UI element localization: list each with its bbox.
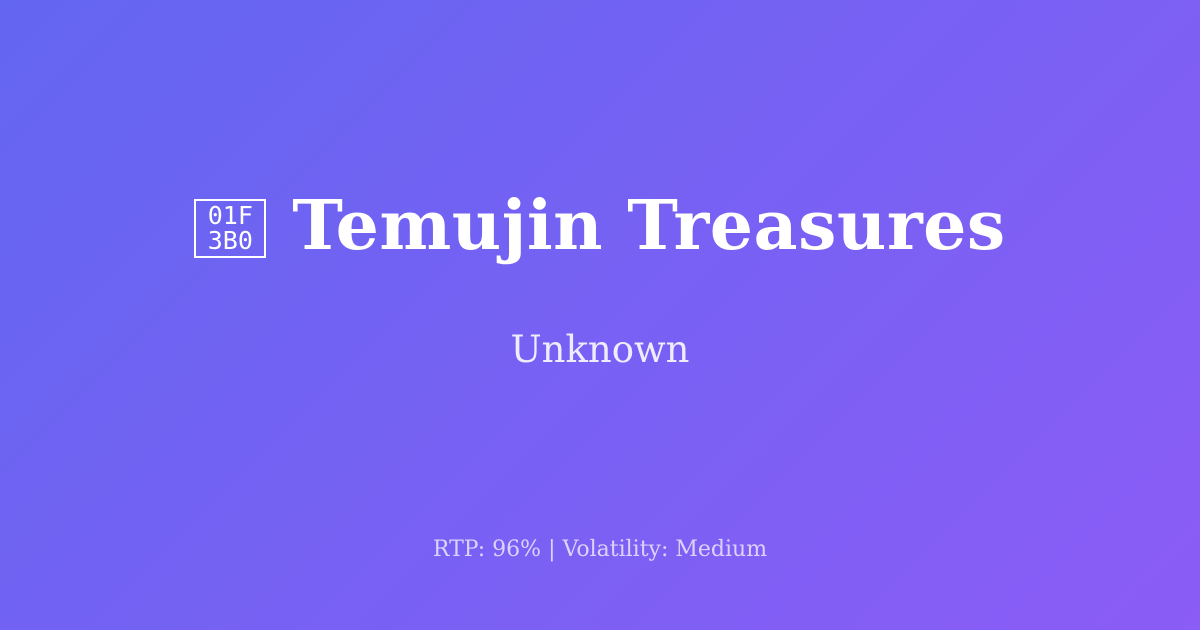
card-footer: RTP: 96% | Volatility: Medium — [0, 536, 1200, 564]
page-title: Temujin Treasures — [292, 186, 1005, 266]
tofu-codepoint-line-1: 01F — [208, 203, 253, 228]
tofu-codepoint-line-2: 3B0 — [208, 228, 253, 253]
slot-machine-icon: 01F 3B0 — [194, 199, 266, 258]
game-meta-line: RTP: 96% | Volatility: Medium — [0, 536, 1200, 564]
page-subtitle: Unknown — [510, 328, 689, 372]
og-card: 01F 3B0 Temujin Treasures Unknown RTP: 9… — [0, 0, 1200, 630]
title-row: 01F 3B0 Temujin Treasures — [194, 186, 1005, 266]
